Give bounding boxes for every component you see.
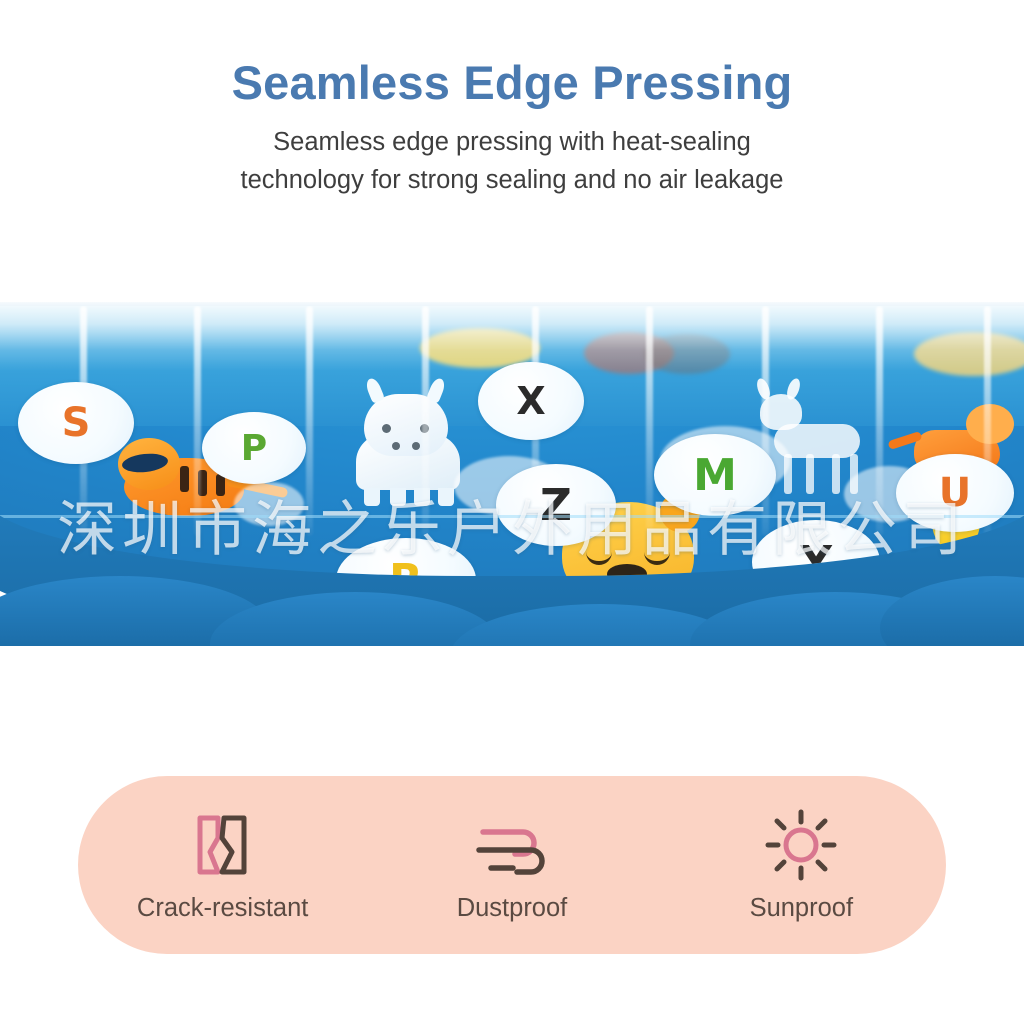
printed-graphic bbox=[644, 334, 730, 374]
cow-leg bbox=[390, 488, 406, 506]
letter-bubble-label: M bbox=[693, 450, 737, 501]
feature-crack-resistant[interactable]: Crack-resistant bbox=[98, 808, 348, 922]
features-bar: Crack-resistant Dustproof bbox=[78, 776, 946, 954]
feature-label: Dustproof bbox=[457, 896, 568, 922]
tiger-head bbox=[118, 438, 180, 490]
feature-sunproof[interactable]: Sunproof bbox=[676, 808, 926, 922]
printed-graphic bbox=[914, 332, 1024, 376]
page-title: Seamless Edge Pressing bbox=[0, 0, 1024, 107]
letter-bubble-label: S bbox=[62, 400, 91, 446]
feature-dustproof[interactable]: Dustproof bbox=[387, 808, 637, 922]
cow-leg bbox=[364, 488, 380, 506]
water-jet bbox=[646, 306, 653, 536]
letter-bubble-label: U bbox=[939, 470, 971, 516]
letter-bubble-s: S bbox=[18, 382, 134, 464]
water-jet bbox=[762, 306, 769, 536]
tiger-stripe bbox=[180, 466, 189, 492]
letter-bubble-label: X bbox=[516, 379, 545, 423]
water-jet bbox=[194, 306, 201, 536]
page-subtitle: Seamless edge pressing with heat-sealing… bbox=[0, 107, 1024, 199]
deer-leg bbox=[806, 454, 814, 494]
product-feature-page: UCA Seamless Edge Pressing Seamless edge… bbox=[0, 0, 1024, 1024]
letter-bubble-x: X bbox=[478, 362, 584, 440]
cow-leg bbox=[438, 488, 454, 506]
dustproof-icon bbox=[473, 808, 551, 882]
subtitle-line-1: Seamless edge pressing with heat-sealing bbox=[0, 124, 1024, 161]
water-jet bbox=[422, 306, 429, 536]
subtitle-line-2: technology for strong sealing and no air… bbox=[0, 162, 1024, 199]
letter-bubble-p: P bbox=[202, 412, 306, 484]
letter-bubble-m: M bbox=[654, 434, 776, 516]
pool-water-basin: S P R X Z M Y U bbox=[0, 306, 1024, 576]
header: Seamless Edge Pressing Seamless edge pre… bbox=[0, 0, 1024, 199]
cow-graphic bbox=[356, 434, 460, 490]
deer-leg bbox=[832, 454, 840, 494]
sunproof-icon bbox=[764, 808, 838, 882]
water-jet bbox=[306, 306, 313, 536]
product-photo: S P R X Z M Y U bbox=[0, 246, 1024, 646]
cow-nostril bbox=[392, 442, 400, 450]
feature-label: Sunproof bbox=[750, 896, 854, 922]
letter-bubble-label: P bbox=[241, 428, 267, 469]
crack-resistant-icon bbox=[186, 808, 260, 882]
feature-label: Crack-resistant bbox=[137, 896, 308, 922]
tiger-eye bbox=[121, 452, 169, 475]
pool-rim-highlight bbox=[0, 515, 1024, 576]
cow-eye bbox=[382, 424, 391, 433]
cow-head bbox=[364, 394, 448, 456]
cow-nostril bbox=[412, 442, 420, 450]
